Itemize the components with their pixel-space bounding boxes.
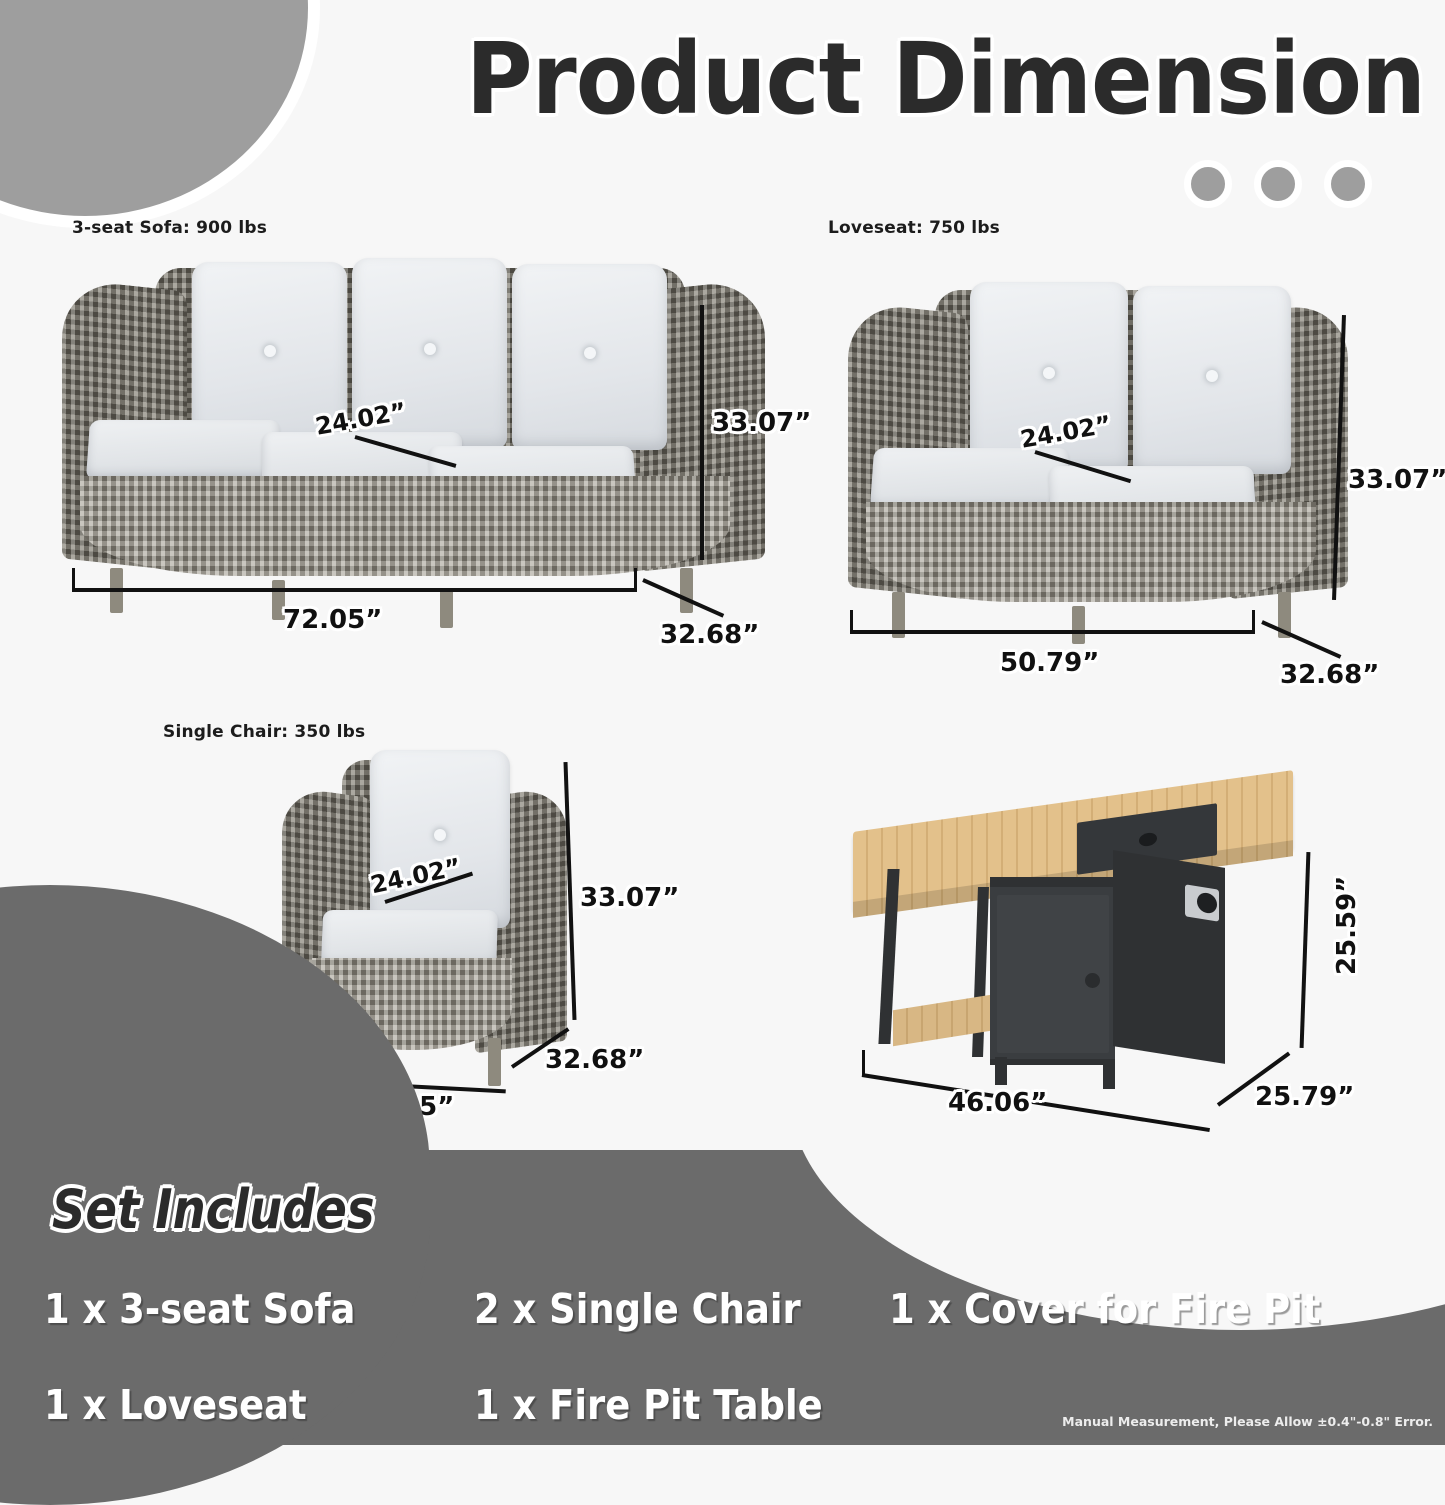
dimension-line-loveseat-width [850,630,1255,634]
product-label-loveseat: Loveseat: 750 lbs [828,218,1000,238]
dimension-loveseat-depth: 32.68” [1280,660,1379,690]
dimension-table-width: 46.06” [948,1088,1047,1118]
dimension-sofa-depth: 32.68” [660,620,759,650]
decorative-dot [1324,160,1372,208]
decorative-dot [1254,160,1302,208]
illustration-fire-pit-table [845,795,1315,1085]
tick [72,568,75,592]
dimension-line-sofa-height [700,305,704,560]
dimension-sofa-width: 72.05” [283,605,382,635]
decorative-dots [1184,160,1372,208]
set-includes-item: 1 x Cover for Fire Pit [889,1285,1371,1333]
dimension-sofa-height: 33.07” [712,408,811,438]
dimension-line-sofa-width [72,588,637,592]
tick [1252,610,1255,634]
dimension-table-height: 25.59” [1332,876,1362,975]
tick [850,610,853,634]
dimension-chair-depth: 32.68” [545,1045,644,1075]
tick [634,568,637,592]
set-includes-title: Set Includes [52,1178,375,1241]
tick [862,1050,865,1076]
dimension-chair-height: 33.07” [580,883,679,913]
product-label-three-seat-sofa: 3-seat Sofa: 900 lbs [72,218,267,238]
set-includes-item: 2 x Single Chair [474,1285,848,1333]
infographic-canvas: Product Dimension 3-seat Sofa: 900 lbs [0,0,1445,1445]
illustration-loveseat [830,270,1350,630]
set-includes-list: 1 x 3-seat Sofa 2 x Single Chair 1 x Cov… [44,1285,1424,1429]
set-includes-item: 1 x Fire Pit Table [474,1381,848,1429]
set-includes-item: 1 x 3-seat Sofa [44,1285,431,1333]
dimension-loveseat-height: 33.07” [1348,465,1445,495]
decorative-dot [1184,160,1232,208]
set-includes-item: 1 x Loveseat [44,1381,431,1429]
product-label-single-chair: Single Chair: 350 lbs [163,722,365,742]
dimension-table-depth: 25.79” [1255,1082,1354,1112]
dimension-loveseat-width: 50.79” [1000,648,1099,678]
page-title: Product Dimension [114,22,1425,137]
measurement-disclaimer: Manual Measurement, Please Allow ±0.4"-0… [1062,1414,1433,1429]
